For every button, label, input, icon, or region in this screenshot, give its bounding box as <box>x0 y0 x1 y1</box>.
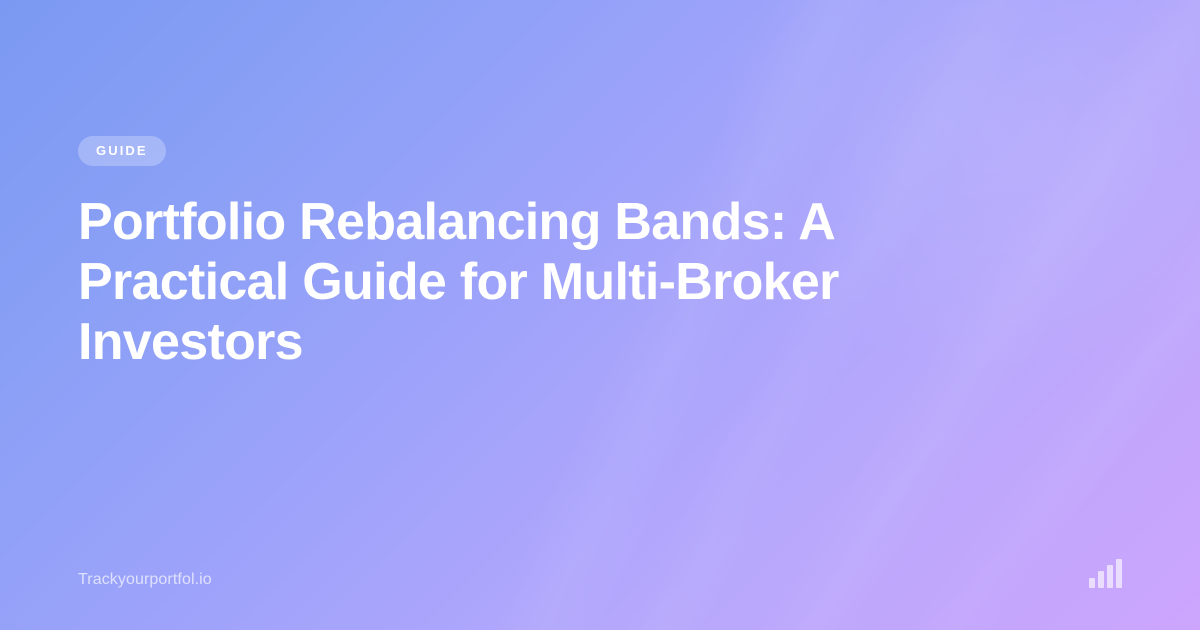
card-content: GUIDE Portfolio Rebalancing Bands: A Pra… <box>78 136 1122 372</box>
bar-chart-icon <box>1089 558 1122 588</box>
bar-chart-bar-3 <box>1107 565 1113 588</box>
social-share-card: GUIDE Portfolio Rebalancing Bands: A Pra… <box>0 0 1200 630</box>
site-name: Trackyourportfol.io <box>78 572 212 588</box>
category-badge: GUIDE <box>78 136 166 166</box>
bar-chart-bar-4 <box>1116 559 1122 588</box>
page-title: Portfolio Rebalancing Bands: A Practical… <box>78 192 878 372</box>
card-footer: Trackyourportfol.io <box>78 558 1122 588</box>
bar-chart-bar-1 <box>1089 578 1095 588</box>
bar-chart-bar-2 <box>1098 571 1104 588</box>
